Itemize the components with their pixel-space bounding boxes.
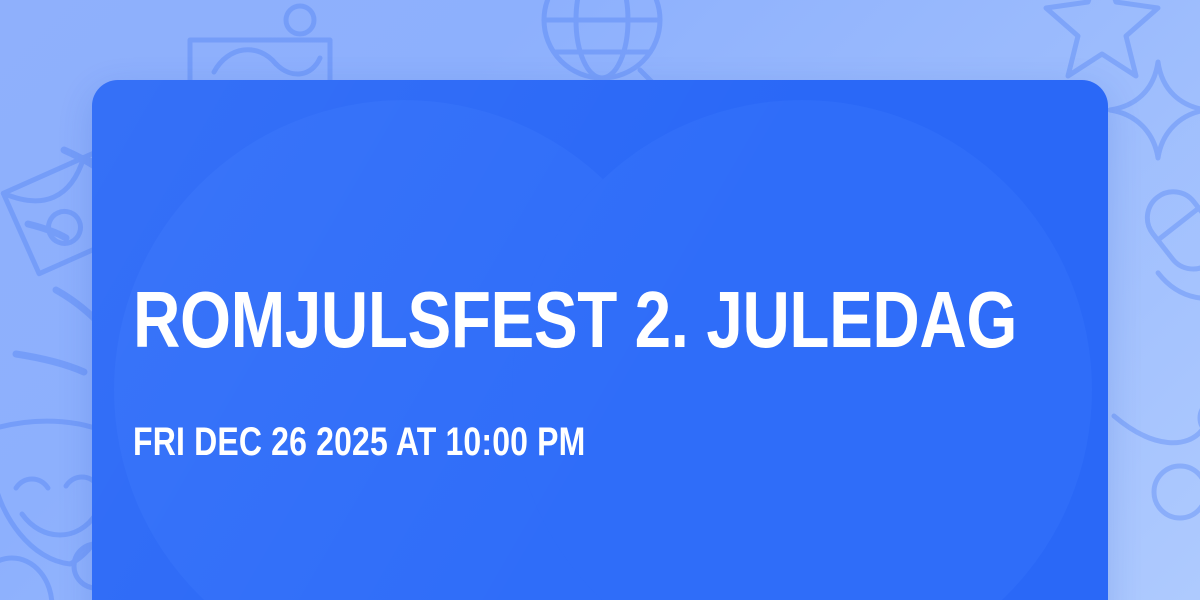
event-datetime: FRI DEC 26 2025 AT 10:00 PM [133,420,586,464]
event-title: ROMJULSFEST 2. JULEDAG [133,278,1017,361]
confetti-streamer-icon [1114,400,1200,443]
event-card-canvas: ROMJULSFEST 2. JULEDAG FRI DEC 26 2025 A… [0,0,1200,600]
card-content: ROMJULSFEST 2. JULEDAG FRI DEC 26 2025 A… [133,80,1068,600]
event-card[interactable]: ROMJULSFEST 2. JULEDAG FRI DEC 26 2025 A… [92,80,1108,600]
star-burst-icon [1046,0,1158,76]
balloon-icon [0,558,52,600]
microphone-icon [1121,169,1200,349]
sparkle-icon [1110,62,1200,158]
